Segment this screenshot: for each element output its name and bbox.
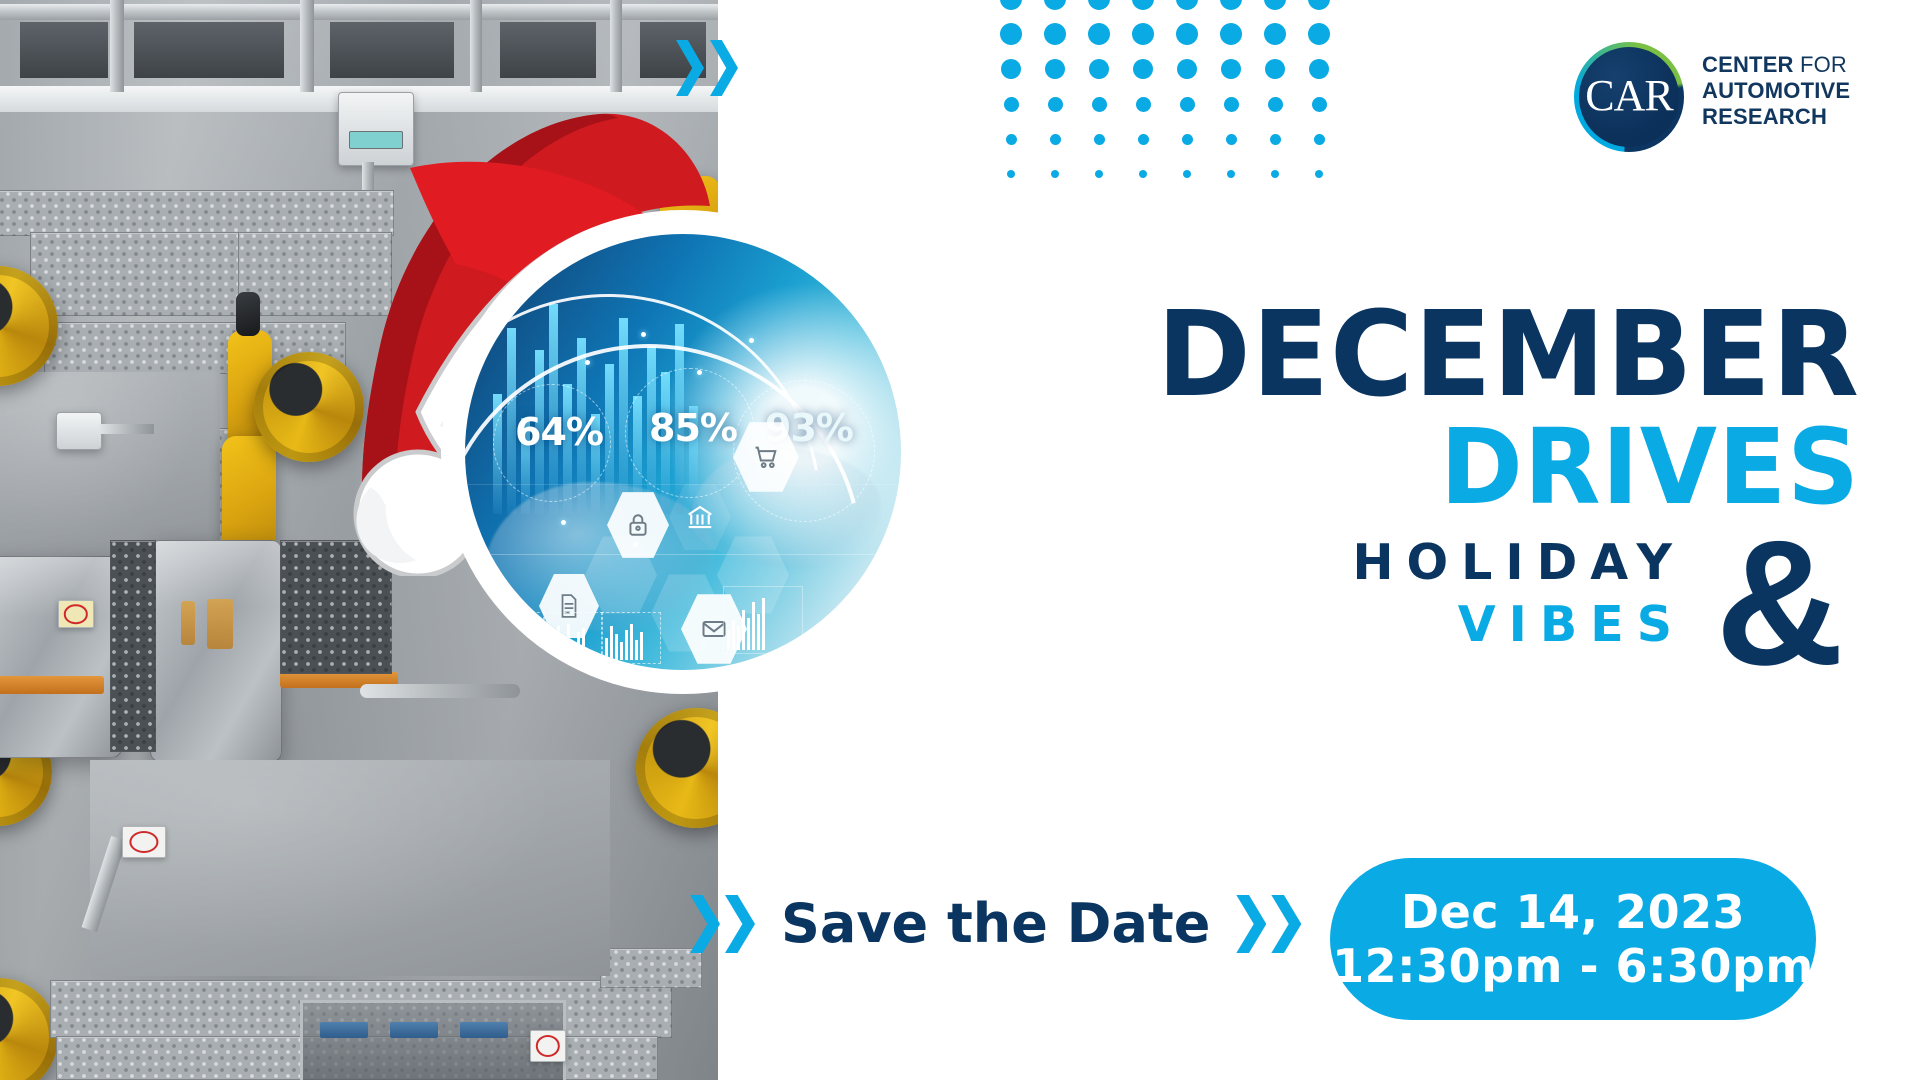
grid-dot [1133,59,1153,79]
grid-dot [1001,59,1021,79]
ceiling-gap [500,22,596,78]
grid-dot [1044,0,1066,10]
grid-dot [1180,97,1195,112]
grid-dot [1309,59,1329,79]
grid-dot [1312,97,1327,112]
chevron-icon [1271,895,1301,953]
grid-dot [1176,23,1198,45]
grid-dot [1176,0,1198,10]
grid-dot [1308,23,1330,45]
grid-dot [1221,59,1241,79]
chevron-icon [710,40,738,96]
grid-dot [1183,170,1191,178]
sensor-box [56,412,102,450]
caution-label [122,826,166,858]
ceiling-support [610,0,622,92]
wordmark-center: CENTER [1702,52,1794,77]
wordmark-for: FOR [1800,52,1847,77]
grid-dot [1224,97,1239,112]
headline-vibes: VIBES [1352,594,1685,656]
circle-image-content: 64% 85% 93% [465,234,901,670]
car-body-panel [0,556,122,758]
chevron-icon [1236,895,1266,953]
grid-dot [1094,134,1105,145]
conveyor-belt [110,540,156,752]
save-the-date-label: Save the Date [781,895,1210,953]
parts-bin [460,1022,508,1038]
grid-dot [1048,97,1063,112]
grid-dot [1044,23,1066,45]
event-time: 12:30pm - 6:30pm [1332,939,1814,993]
car-logo: CAR [1574,42,1684,152]
grid-dot [1000,23,1022,45]
grid-dot [1088,0,1110,10]
grid-dot [1314,134,1325,145]
grid-dot [1139,170,1147,178]
grid-dot [1264,0,1286,10]
save-the-date-row: Save the Date [690,895,1301,953]
grid-dot [1136,97,1151,112]
car-aperture [207,599,233,649]
network-node [561,520,566,525]
headline-holiday-vibes: HOLIDAY VIBES [1352,532,1685,656]
network-node [641,332,646,337]
grid-dot [1004,97,1019,112]
factory-floor [0,372,220,562]
promotional-poster: 64% 85% 93% [0,0,1920,1080]
network-node [585,360,590,365]
headline-december: DECEMBER [1015,300,1860,408]
grid-dot [1050,134,1061,145]
network-node [697,370,702,375]
headline-holiday: HOLIDAY [1352,532,1685,594]
ceiling-support [300,0,314,92]
ceiling-support [470,0,482,92]
parts-bin [390,1022,438,1038]
grid-dot [1265,59,1285,79]
grid-dot [1220,23,1242,45]
wordmark-line-2: AUTOMOTIVE [1702,78,1850,104]
double-chevron-icon [676,40,738,96]
walkway-plate [600,948,702,988]
grid-dot [1006,134,1017,145]
wordmark-line-3: RESEARCH [1702,104,1850,130]
technology-circle-image: 64% 85% 93% [443,212,923,692]
stat-85: 85% [649,406,737,450]
grid-dot [1308,0,1330,10]
sensor-arm [100,424,154,434]
grid-dot [1271,170,1279,178]
mini-bar-chart [485,612,545,664]
mini-bar-chart [543,612,603,664]
grid-dot [1095,170,1103,178]
double-chevron-icon-left [690,895,755,953]
grid-dot [1220,0,1242,10]
warning-sign [530,1030,566,1062]
mini-bar-chart [601,612,661,664]
grid-dot [1182,134,1193,145]
grid-dot [1007,170,1015,178]
ceiling-gap [20,22,108,78]
chevron-icon [690,895,720,953]
factory-floor [90,760,610,976]
grid-dot [1132,0,1154,10]
wordmark-line-1: CENTER FOR [1702,52,1850,78]
car-aperture [181,601,195,645]
grid-dot [1270,134,1281,145]
chevron-icon [676,40,704,96]
brand-wordmark: CENTER FOR AUTOMOTIVE RESEARCH [1702,52,1850,130]
headline-block: DECEMBER DRIVES HOLIDAY VIBES & [980,300,1860,520]
chevron-icon [725,895,755,953]
stat-64: 64% [515,410,603,454]
logo-text: CAR [1585,74,1672,118]
parts-cage [300,1000,566,1080]
grid-dot [1177,59,1197,79]
headline-ampersand: & [1715,514,1844,692]
grid-dot [1227,170,1235,178]
double-chevron-icon-right [1236,895,1301,953]
event-date-badge[interactable]: Dec 14, 2023 12:30pm - 6:30pm [1330,858,1816,1020]
grid-dot [1315,170,1323,178]
grid-dot [1264,23,1286,45]
grid-dot [1051,170,1059,178]
line-chart [723,586,803,654]
car-body-panel [150,540,282,762]
conveyor-rail [0,676,104,694]
ceiling-gap [330,22,454,78]
grid-dot [1268,97,1283,112]
event-date: Dec 14, 2023 [1401,885,1745,939]
grid-dot [1000,0,1022,10]
grid-dot [1045,59,1065,79]
grid-dot [1089,59,1109,79]
grid-dot [1138,134,1149,145]
robot-joint [236,292,260,336]
logo-disc: CAR [1579,47,1679,147]
network-node [749,338,754,343]
ceiling-support [110,0,124,92]
caution-label [58,600,94,628]
grid-dot [1132,23,1154,45]
parts-bin [320,1022,368,1038]
ceiling-gap [134,22,284,78]
grid-dot [1092,97,1107,112]
grid-dot [1226,134,1237,145]
grid-dot [1088,23,1110,45]
